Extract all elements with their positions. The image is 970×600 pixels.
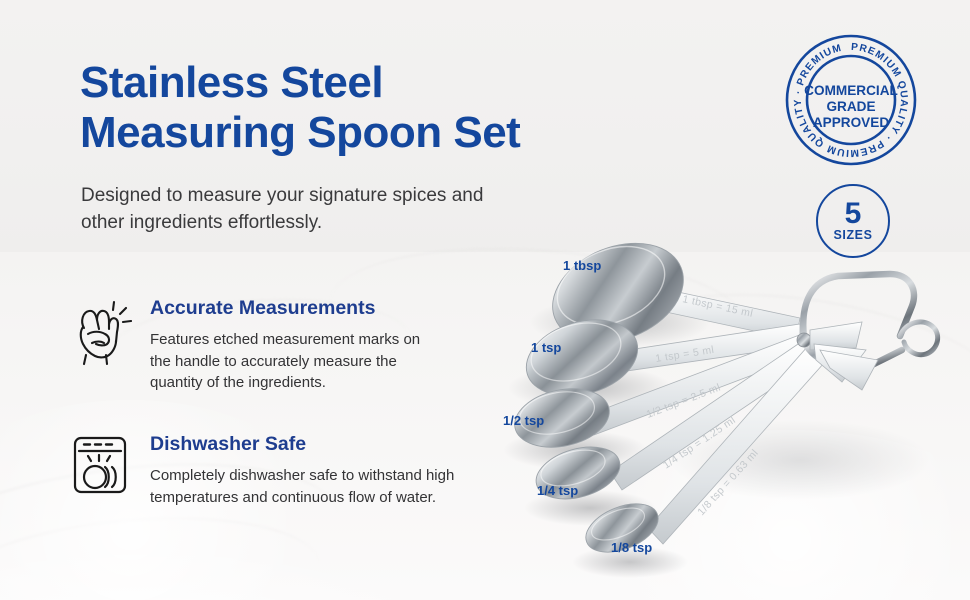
pinch-spices-icon — [70, 296, 132, 394]
seal-line-1: COMMERCIAL — [804, 83, 898, 98]
seal-line-3: APPROVED — [813, 115, 889, 130]
infographic-canvas: Stainless Steel Measuring Spoon Set Desi… — [0, 0, 970, 600]
size-label-quarter-tsp: 1/4 tsp — [537, 483, 578, 498]
feature-dishwasher-safe: Dishwasher Safe Completely dishwasher sa… — [70, 432, 490, 508]
feature-body: Completely dishwasher safe to withstand … — [150, 465, 454, 508]
feature-title: Dishwasher Safe — [150, 432, 454, 456]
feature-accurate-measurements: Accurate Measurements Features etched me… — [70, 296, 490, 394]
seal-line-2: GRADE — [826, 99, 875, 114]
size-label-1-tsp: 1 tsp — [531, 340, 561, 355]
size-label-1-tbsp: 1 tbsp — [563, 258, 601, 273]
feature-title: Accurate Measurements — [150, 296, 420, 320]
page-title: Stainless Steel Measuring Spoon Set — [80, 58, 520, 158]
commercial-grade-seal: PREMIUM QUALITY · PREMIUM QUALITY · PREM… — [784, 33, 918, 167]
size-label-half-tsp: 1/2 tsp — [503, 413, 544, 428]
dishwasher-icon — [70, 432, 132, 508]
product-image: 1 tbsp = 15 ml 1 tsp = 5 ml 1/2 tsp = 2.… — [470, 210, 970, 600]
size-label-eighth-tsp: 1/8 tsp — [611, 540, 652, 555]
feature-body: Features etched measurement marks on the… — [150, 329, 420, 394]
